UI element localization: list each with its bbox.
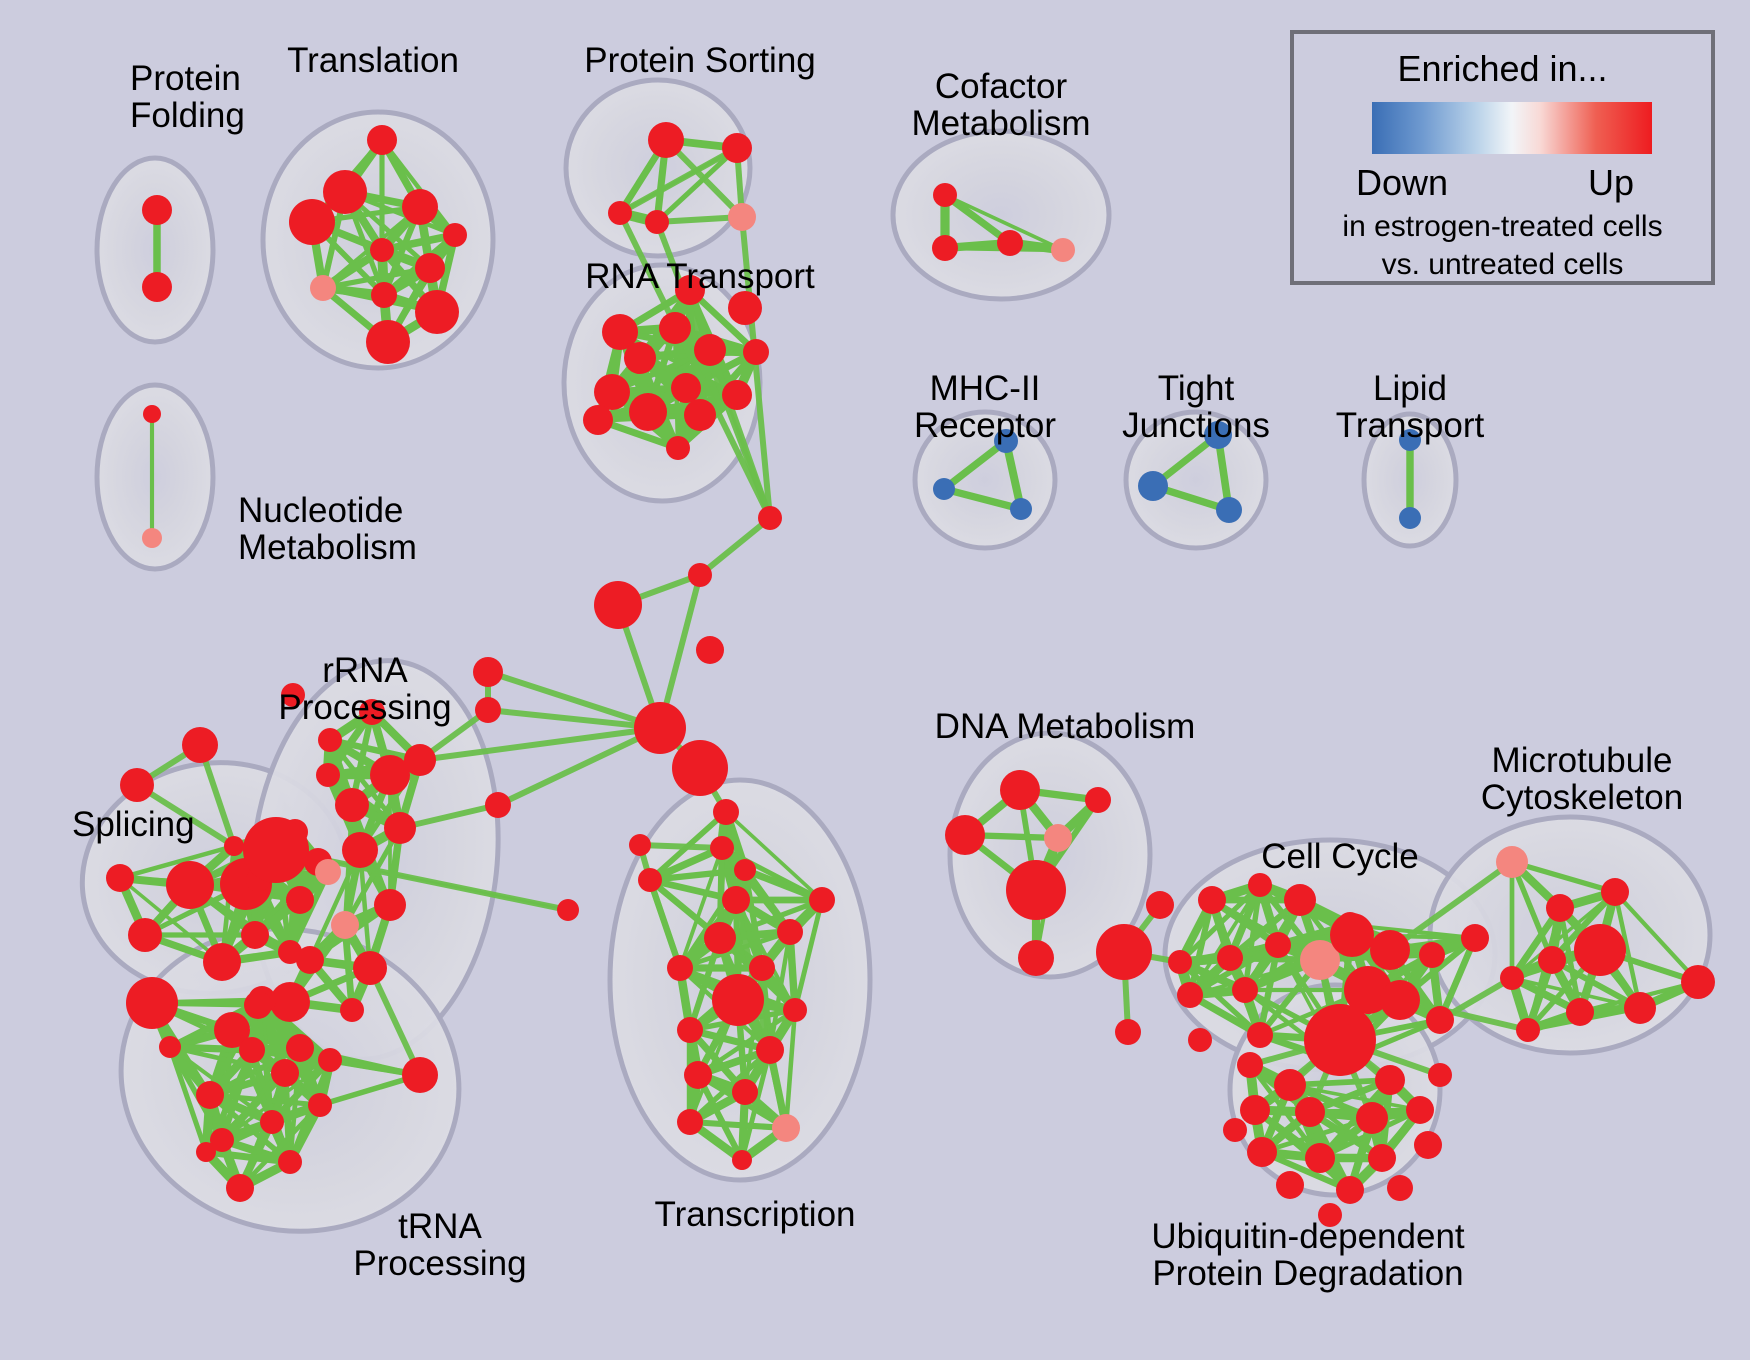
network-node-up[interactable] xyxy=(1237,1052,1263,1078)
network-node-up[interactable] xyxy=(688,563,712,587)
network-node-up[interactable] xyxy=(367,125,397,155)
network-node-up[interactable] xyxy=(166,861,214,909)
network-node-up[interactable] xyxy=(1368,1144,1396,1172)
network-node-up[interactable] xyxy=(270,982,310,1022)
network-node-up[interactable] xyxy=(732,1079,758,1105)
network-node-up[interactable] xyxy=(722,133,752,163)
cluster-label-transcription: Transcription xyxy=(655,1196,856,1233)
cluster-label-splicing: Splicing xyxy=(72,806,195,843)
network-node-up[interactable] xyxy=(1248,873,1272,897)
network-node-up[interactable] xyxy=(1419,942,1445,968)
network-edge xyxy=(640,845,722,848)
network-node-up[interactable] xyxy=(485,792,511,818)
network-node-up[interactable] xyxy=(1516,1018,1540,1042)
network-node-up[interactable] xyxy=(666,436,690,460)
cluster-label-tight-junctions: Tight Junctions xyxy=(1122,370,1270,444)
network-node-up[interactable] xyxy=(1168,950,1192,974)
network-node-up[interactable] xyxy=(1574,924,1626,976)
network-node-up[interactable] xyxy=(696,636,724,664)
network-node-mid[interactable] xyxy=(1044,824,1072,852)
network-node-up[interactable] xyxy=(126,977,178,1029)
network-node-up[interactable] xyxy=(1295,1097,1325,1127)
network-node-up[interactable] xyxy=(260,1110,284,1134)
network-node-up[interactable] xyxy=(1177,982,1203,1008)
cluster-label-rrna-processing: rRNA Processing xyxy=(278,652,451,726)
network-node-up[interactable] xyxy=(289,199,335,245)
network-node-up[interactable] xyxy=(443,223,467,247)
legend-title: Enriched in... xyxy=(1294,48,1711,90)
network-edge xyxy=(700,518,770,575)
network-node-up[interactable] xyxy=(608,201,632,225)
cluster-label-microtubule: Microtubule Cytoskeleton xyxy=(1481,742,1683,816)
network-node-up[interactable] xyxy=(196,1142,216,1162)
network-node-up[interactable] xyxy=(241,921,269,949)
enrichment-network-figure: Enriched in... Down Up in estrogen-treat… xyxy=(0,0,1750,1360)
network-node-up[interactable] xyxy=(1500,966,1524,990)
network-node-up[interactable] xyxy=(1018,940,1054,976)
network-node-mid[interactable] xyxy=(315,859,341,885)
network-node-down[interactable] xyxy=(933,478,955,500)
network-node-up[interactable] xyxy=(629,393,667,431)
network-node-up[interactable] xyxy=(1566,998,1594,1026)
network-node-up[interactable] xyxy=(143,405,161,423)
network-node-up[interactable] xyxy=(713,799,739,825)
network-node-up[interactable] xyxy=(783,998,807,1022)
network-node-up[interactable] xyxy=(120,768,154,802)
network-node-up[interactable] xyxy=(932,235,958,261)
network-node-up[interactable] xyxy=(1284,884,1316,916)
network-node-up[interactable] xyxy=(645,210,669,234)
network-node-up[interactable] xyxy=(404,744,436,776)
network-node-up[interactable] xyxy=(1461,924,1489,952)
network-node-up[interactable] xyxy=(594,581,642,629)
network-node-up[interactable] xyxy=(1305,1143,1335,1173)
network-node-up[interactable] xyxy=(1330,913,1374,957)
network-node-up[interactable] xyxy=(308,1093,332,1117)
network-node-down[interactable] xyxy=(1010,498,1032,520)
network-node-up[interactable] xyxy=(712,974,764,1026)
network-node-up[interactable] xyxy=(743,339,769,365)
network-node-up[interactable] xyxy=(1006,860,1066,920)
network-node-up[interactable] xyxy=(1681,965,1715,999)
network-node-up[interactable] xyxy=(1240,1095,1270,1125)
network-node-up[interactable] xyxy=(159,1036,181,1058)
cluster-label-dna-metabolism: DNA Metabolism xyxy=(935,708,1196,745)
network-node-up[interactable] xyxy=(278,1150,302,1174)
network-node-up[interactable] xyxy=(629,834,651,856)
network-node-up[interactable] xyxy=(316,763,340,787)
network-node-up[interactable] xyxy=(722,886,750,914)
network-node-up[interactable] xyxy=(370,755,410,795)
network-node-up[interactable] xyxy=(1276,1171,1304,1199)
network-node-up[interactable] xyxy=(684,399,716,431)
cluster-label-ubiquitin: Ubiquitin-dependent Protein Degradation xyxy=(1151,1218,1464,1292)
cluster-label-protein-folding: Protein Folding xyxy=(130,60,245,134)
network-node-up[interactable] xyxy=(677,1017,703,1043)
network-node-up[interactable] xyxy=(318,728,342,752)
cluster-label-mhc-ii-receptor: MHC-II Receptor xyxy=(914,370,1056,444)
network-node-up[interactable] xyxy=(286,1034,314,1062)
cluster-label-translation: Translation xyxy=(287,42,459,79)
network-node-down[interactable] xyxy=(1399,507,1421,529)
network-node-up[interactable] xyxy=(1096,924,1152,980)
network-node-up[interactable] xyxy=(758,506,782,530)
network-node-up[interactable] xyxy=(1601,878,1629,906)
network-node-up[interactable] xyxy=(142,195,172,225)
network-node-up[interactable] xyxy=(1538,946,1566,974)
network-node-up[interactable] xyxy=(226,1174,254,1202)
network-node-up[interactable] xyxy=(1265,932,1291,958)
network-node-mid[interactable] xyxy=(1051,238,1075,262)
cluster-label-trna-processing: tRNA Processing xyxy=(353,1208,526,1282)
network-node-up[interactable] xyxy=(271,1059,299,1087)
network-node-up[interactable] xyxy=(684,1061,712,1089)
network-node-up[interactable] xyxy=(286,886,314,914)
network-node-up[interactable] xyxy=(1217,945,1243,971)
network-node-up[interactable] xyxy=(1274,1069,1306,1101)
network-node-up[interactable] xyxy=(106,864,134,892)
network-node-up[interactable] xyxy=(475,697,501,723)
network-node-up[interactable] xyxy=(1380,980,1420,1020)
network-node-mid[interactable] xyxy=(331,911,359,939)
network-node-up[interactable] xyxy=(473,657,503,687)
network-node-up[interactable] xyxy=(594,374,630,410)
network-node-up[interactable] xyxy=(353,951,387,985)
network-node-up[interactable] xyxy=(648,122,684,158)
network-node-up[interactable] xyxy=(756,1036,784,1064)
network-node-up[interactable] xyxy=(415,253,445,283)
network-node-up[interactable] xyxy=(1247,1137,1277,1167)
network-node-up[interactable] xyxy=(243,817,309,883)
network-node-up[interactable] xyxy=(296,946,324,974)
network-node-up[interactable] xyxy=(1375,1065,1405,1095)
network-node-up[interactable] xyxy=(734,859,756,881)
network-node-up[interactable] xyxy=(997,230,1023,256)
network-node-up[interactable] xyxy=(722,380,752,410)
network-node-up[interactable] xyxy=(728,291,762,325)
network-node-up[interactable] xyxy=(1370,930,1410,970)
cluster-label-lipid-transport: Lipid Transport xyxy=(1336,370,1484,444)
network-node-up[interactable] xyxy=(777,919,803,945)
network-node-mid[interactable] xyxy=(142,528,162,548)
network-node-up[interactable] xyxy=(671,373,701,403)
network-node-up[interactable] xyxy=(370,238,394,262)
network-node-up[interactable] xyxy=(1336,1176,1364,1204)
network-node-mid[interactable] xyxy=(1496,846,1528,878)
network-node-up[interactable] xyxy=(374,889,406,921)
network-node-up[interactable] xyxy=(1426,1006,1454,1034)
network-node-up[interactable] xyxy=(402,1057,438,1093)
cluster-label-cofactor-metab: Cofactor Metabolism xyxy=(912,68,1091,142)
network-node-up[interactable] xyxy=(1188,1028,1212,1052)
network-node-up[interactable] xyxy=(809,887,835,913)
network-node-up[interactable] xyxy=(945,815,985,855)
network-node-up[interactable] xyxy=(1387,1175,1413,1201)
legend-up-label: Up xyxy=(1588,162,1634,204)
legend-subtitle-line2: vs. untreated cells xyxy=(1294,248,1711,282)
network-node-up[interactable] xyxy=(415,290,459,334)
cluster-label-cell-cycle: Cell Cycle xyxy=(1261,838,1419,875)
network-node-mid[interactable] xyxy=(772,1114,800,1142)
network-node-mid[interactable] xyxy=(728,203,756,231)
network-node-up[interactable] xyxy=(366,320,410,364)
network-node-up[interactable] xyxy=(1223,1118,1247,1142)
network-node-up[interactable] xyxy=(933,183,957,207)
network-node-up[interactable] xyxy=(340,998,364,1022)
network-node-up[interactable] xyxy=(1146,891,1174,919)
network-node-up[interactable] xyxy=(677,1109,703,1135)
network-node-up[interactable] xyxy=(224,836,244,856)
network-node-up[interactable] xyxy=(1115,1019,1141,1045)
cluster-label-protein-sorting: Protein Sorting xyxy=(584,42,816,79)
network-node-up[interactable] xyxy=(667,955,693,981)
network-node-down[interactable] xyxy=(1216,497,1242,523)
network-node-up[interactable] xyxy=(142,272,172,302)
cluster-label-rna-transport: RNA Transport xyxy=(585,258,815,295)
network-node-up[interactable] xyxy=(1414,1131,1442,1159)
network-node-up[interactable] xyxy=(196,1081,224,1109)
network-node-up[interactable] xyxy=(1085,787,1111,813)
network-node-up[interactable] xyxy=(1428,1063,1452,1087)
network-node-up[interactable] xyxy=(672,740,728,796)
network-node-mid[interactable] xyxy=(310,275,336,301)
network-node-up[interactable] xyxy=(694,334,726,366)
network-node-up[interactable] xyxy=(384,812,416,844)
network-node-up[interactable] xyxy=(557,899,579,921)
network-node-up[interactable] xyxy=(704,922,736,954)
network-node-up[interactable] xyxy=(1000,770,1040,810)
network-node-up[interactable] xyxy=(634,702,686,754)
legend-box: Enriched in... Down Up in estrogen-treat… xyxy=(1290,30,1715,285)
legend-subtitle-line1: in estrogen-treated cells xyxy=(1294,210,1711,244)
network-node-up[interactable] xyxy=(732,1150,752,1170)
network-node-up[interactable] xyxy=(402,189,438,225)
network-node-up[interactable] xyxy=(239,1037,265,1063)
network-node-up[interactable] xyxy=(128,918,162,952)
network-node-up[interactable] xyxy=(371,282,397,308)
cluster-hull xyxy=(893,131,1109,299)
network-node-up[interactable] xyxy=(335,788,369,822)
network-node-up[interactable] xyxy=(749,955,775,981)
legend-down-label: Down xyxy=(1356,162,1448,204)
network-node-up[interactable] xyxy=(318,1048,342,1072)
network-node-up[interactable] xyxy=(244,991,272,1019)
network-node-up[interactable] xyxy=(583,405,613,435)
network-node-up[interactable] xyxy=(1546,894,1574,922)
network-node-up[interactable] xyxy=(203,943,241,981)
network-node-up[interactable] xyxy=(624,342,656,374)
network-node-up[interactable] xyxy=(1624,992,1656,1024)
network-node-up[interactable] xyxy=(1198,886,1226,914)
color-gradient-bar xyxy=(1372,102,1652,154)
network-node-up[interactable] xyxy=(1406,1096,1434,1124)
network-node-up[interactable] xyxy=(710,836,734,860)
network-node-down[interactable] xyxy=(1138,471,1168,501)
network-node-up[interactable] xyxy=(182,727,218,763)
network-node-up[interactable] xyxy=(1356,1102,1388,1134)
network-node-up[interactable] xyxy=(342,832,378,868)
network-node-up[interactable] xyxy=(1326,1048,1354,1076)
cluster-label-nucleotide-metab: Nucleotide Metabolism xyxy=(238,492,417,566)
network-node-up[interactable] xyxy=(1232,977,1258,1003)
network-node-up[interactable] xyxy=(638,868,662,892)
network-node-up[interactable] xyxy=(1247,1022,1273,1048)
network-node-up[interactable] xyxy=(659,312,691,344)
